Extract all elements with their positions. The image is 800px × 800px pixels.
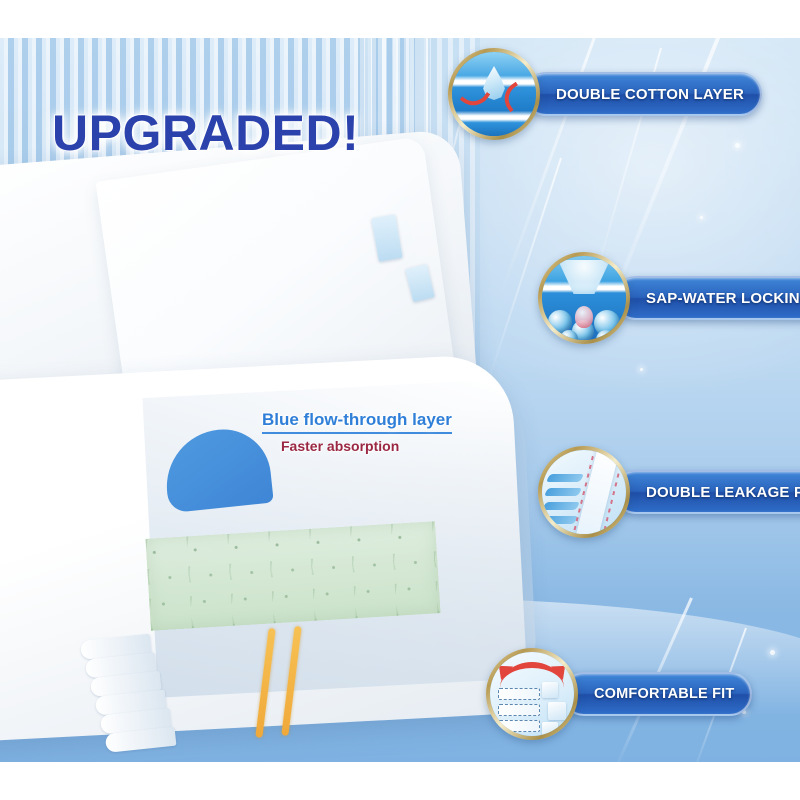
feature-label-pill[interactable]: SAP-WATER LOCKING (614, 276, 800, 320)
cuff-chevron (542, 516, 578, 524)
feature-badge-double-leakage-protection[interactable]: DOUBLE LEAKAGE PROTECTION (538, 446, 800, 538)
cuff-chevron (544, 488, 582, 496)
elastic-leg-cuff-ruffles (80, 632, 182, 761)
sparkle-dot (735, 143, 740, 148)
stretch-layer (498, 688, 540, 700)
stretch-block (542, 682, 558, 698)
feature-label-pill[interactable]: COMFORTABLE FIT (562, 672, 752, 716)
stretch-fit-arrow-icon (490, 652, 574, 736)
page-title: UPGRADED! (52, 104, 359, 162)
feature-label: DOUBLE COTTON LAYER (556, 86, 744, 103)
flow-layer-callout-subtitle: Faster absorption (281, 438, 399, 454)
feature-icon-ring (486, 648, 578, 740)
feature-label: DOUBLE LEAKAGE PROTECTION (646, 484, 800, 501)
feature-badge-sap-water-locking[interactable]: SAP-WATER LOCKING (538, 252, 800, 344)
stretch-layer (498, 720, 540, 732)
leak-guard-cuff-icon (542, 450, 626, 534)
water-drop-absorption-icon (452, 52, 536, 136)
feature-icon-ring (448, 48, 540, 140)
poster-artwork: UPGRADED! Blue flow-through layer Faster… (0, 38, 800, 762)
stretch-layer (498, 704, 540, 716)
product-feature-poster: UPGRADED! Blue flow-through layer Faster… (0, 0, 800, 800)
sparkle-dot (640, 368, 643, 371)
feature-label: SAP-WATER LOCKING (646, 290, 800, 307)
sparkle-dot (700, 216, 703, 219)
cuff-chevron (542, 502, 580, 510)
feature-label-pill[interactable]: DOUBLE LEAKAGE PROTECTION (614, 470, 800, 514)
feature-label-pill[interactable]: DOUBLE COTTON LAYER (524, 72, 762, 116)
flow-layer-callout-title: Blue flow-through layer (262, 410, 452, 434)
cuff-chevron (546, 474, 584, 482)
absorbent-core-print-panel (145, 521, 440, 631)
feature-badge-double-cotton-layer[interactable]: DOUBLE COTTON LAYER (448, 48, 762, 140)
feature-label: COMFORTABLE FIT (594, 686, 734, 702)
sap-locked-droplet (575, 306, 593, 328)
stretch-block (542, 722, 558, 736)
sap-gel-lock-icon (542, 256, 626, 340)
feature-badge-comfortable-fit[interactable]: COMFORTABLE FIT (486, 648, 752, 740)
feature-icon-ring (538, 446, 630, 538)
stretch-block (548, 702, 566, 720)
feature-icon-ring (538, 252, 630, 344)
